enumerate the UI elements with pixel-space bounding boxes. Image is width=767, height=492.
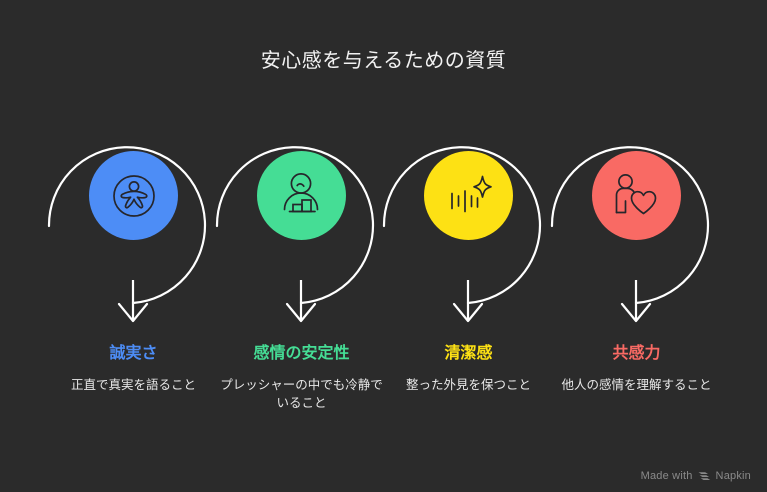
napkin-watermark[interactable]: Made with Napkin (641, 470, 751, 482)
watermark-brand: Napkin (716, 470, 751, 482)
node-item[interactable] (544, 104, 729, 334)
node-description: プレッシャーの中でも冷静でいること (209, 376, 394, 412)
diagram-canvas: 安心感を与えるための資質 (0, 0, 767, 492)
node-description: 整った外見を保つこと (376, 376, 561, 394)
node-label: 感情の安定性 (209, 344, 394, 364)
page-title: 安心感を与えるための資質 (0, 44, 767, 73)
person-with-heart-icon (592, 151, 681, 240)
node-label: 共感力 (544, 344, 729, 364)
sparkle-lines-icon (424, 151, 513, 240)
node-caption: 感情の安定性 プレッシャーの中でも冷静でいること (209, 344, 394, 412)
node-label: 清潔感 (376, 344, 561, 364)
node-description: 正直で真実を語ること (41, 376, 226, 394)
watermark-text: Made with (641, 470, 693, 482)
node-caption: 共感力 他人の感情を理解すること (544, 344, 729, 394)
napkin-logo-icon (698, 471, 711, 482)
node-item[interactable] (209, 104, 394, 334)
node-caption: 誠実さ 正直で真実を語ること (41, 344, 226, 394)
person-with-blocks-icon (257, 151, 346, 240)
person-in-circle-icon (89, 151, 178, 240)
node-description: 他人の感情を理解すること (544, 376, 729, 394)
node-item[interactable] (41, 104, 226, 334)
node-label: 誠実さ (41, 344, 226, 364)
node-item[interactable] (376, 104, 561, 334)
node-caption: 清潔感 整った外見を保つこと (376, 344, 561, 394)
